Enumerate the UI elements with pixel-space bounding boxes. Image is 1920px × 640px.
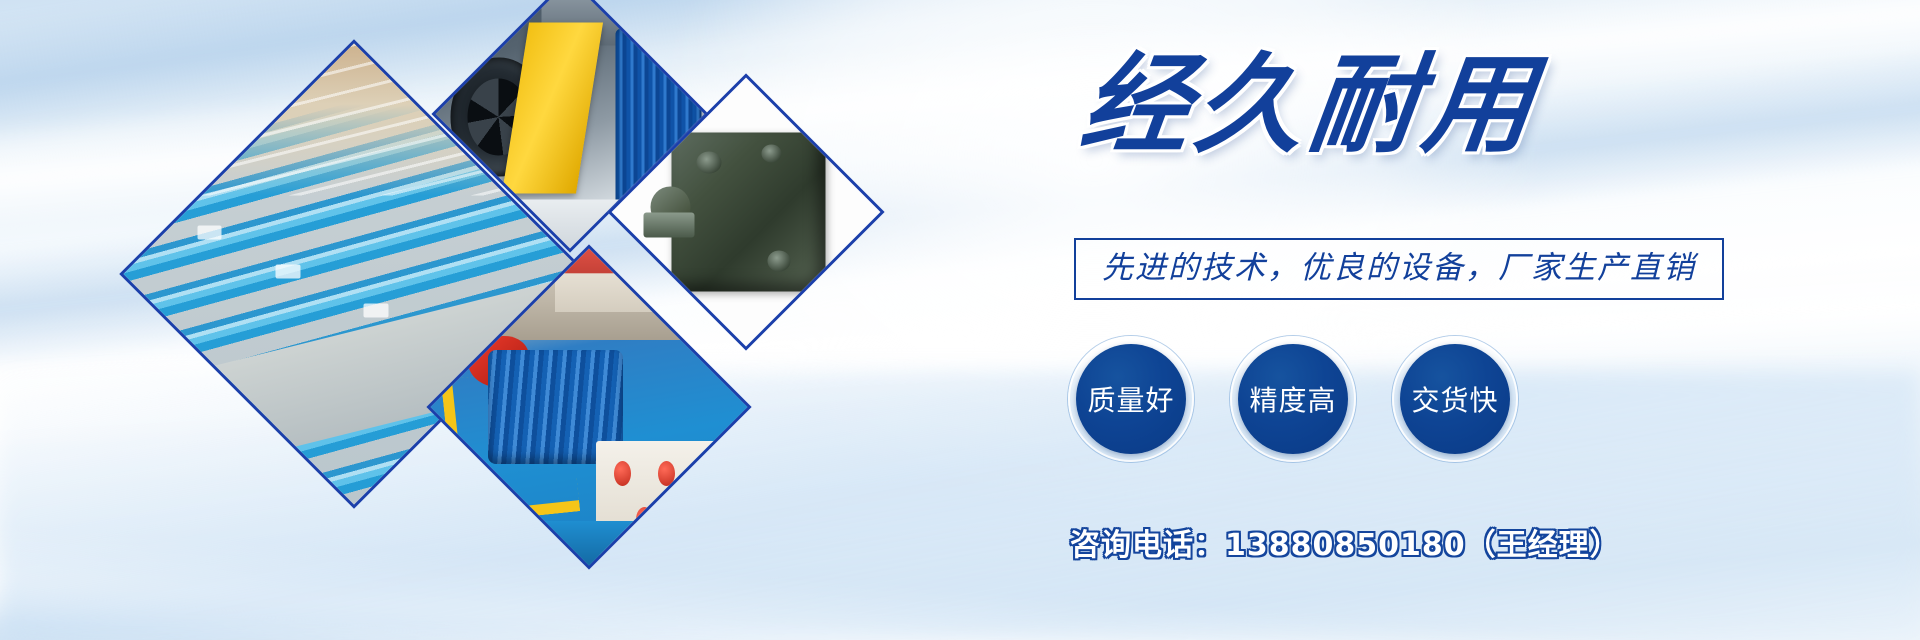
badge-disc: 精度高 [1238,344,1348,454]
promo-banner: 经久耐用 先进的技术，优良的设备，厂家生产直销 质量好 精度高 交货快 [0,0,1920,640]
subtitle-box: 先进的技术，优良的设备，厂家生产直销 [1074,238,1724,300]
banner-content: 经久耐用 先进的技术，优良的设备，厂家生产直销 质量好 精度高 交货快 [1060,0,1920,640]
badge-precision[interactable]: 精度高 [1230,336,1356,462]
feature-badges: 质量好 精度高 交货快 [1068,336,1518,462]
badge-disc: 质量好 [1076,344,1186,454]
badge-quality[interactable]: 质量好 [1068,336,1194,462]
contact-phone-line[interactable]: 咨询电话：13880850180（王经理） [1070,520,1621,564]
badge-disc: 交货快 [1400,344,1510,454]
diamond-photo-collage [150,10,950,630]
subtitle-text: 先进的技术，优良的设备，厂家生产直销 [1102,250,1696,286]
badge-delivery[interactable]: 交货快 [1392,336,1518,462]
badge-label: 精度高 [1249,379,1336,419]
badge-label: 质量好 [1087,379,1174,419]
headline: 经久耐用 [1075,52,1544,160]
badge-label: 交货快 [1411,379,1498,419]
